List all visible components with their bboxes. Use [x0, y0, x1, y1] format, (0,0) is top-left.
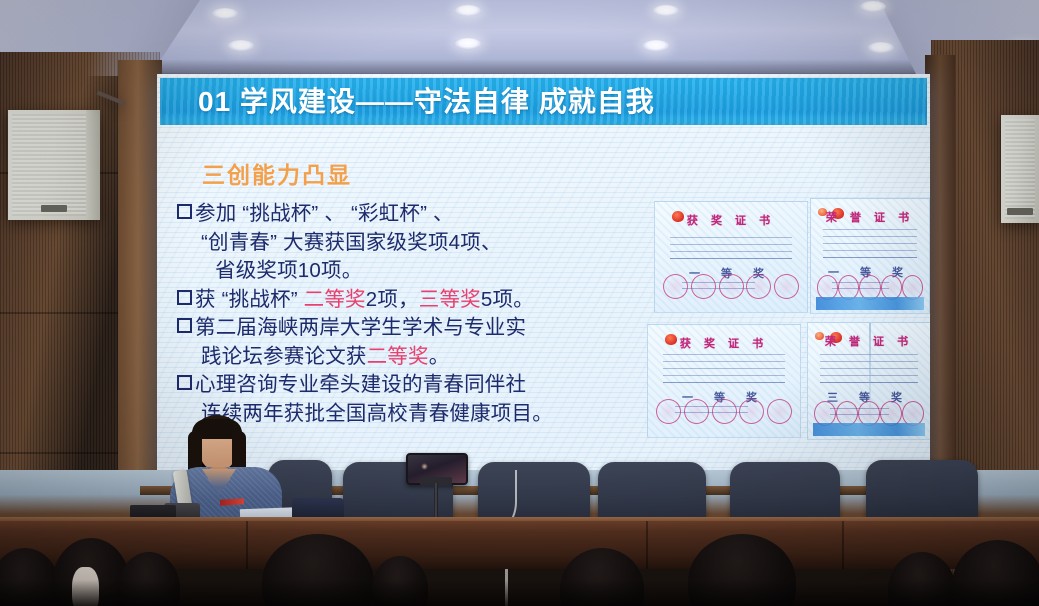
slide-bullet-line: 践论坛参赛论文获二等奖。	[177, 343, 647, 372]
desk-seam	[842, 521, 844, 569]
certificate-heading: 荣 誉 证 书	[811, 209, 929, 225]
seal-icon	[902, 401, 924, 426]
slide-bullet-line: 第二届海峡两岸大学生学术与专业实	[177, 314, 647, 343]
slide-bullet-list: 参加 “挑战杯” 、 “彩虹杯” 、“创青春” 大赛获国家级奖项4项、省级奖项1…	[177, 200, 647, 428]
downlight-icon	[868, 42, 894, 53]
wall-speaker-right	[1001, 115, 1039, 223]
slide-bullet-line: 参加 “挑战杯” 、 “彩虹杯” 、	[177, 200, 647, 229]
bullet-square-icon	[177, 318, 192, 333]
certificate-thumbnail: 荣 誉 证 书 一 等 奖	[810, 198, 930, 314]
certificate-ribbon	[813, 423, 925, 436]
desk-seam	[646, 521, 648, 569]
desk-seam	[246, 521, 248, 569]
certificate-fold	[869, 323, 871, 439]
seal-icon	[712, 399, 737, 424]
seal-icon	[684, 399, 709, 424]
bullet-text: 第二届海峡两岸大学生学术与专业实	[195, 316, 526, 339]
bottom-shadow	[0, 580, 1039, 606]
bullet-square-icon	[177, 290, 192, 305]
slide-bullet-line: 获 “挑战杯” 二等奖2项，三等奖5项。	[177, 286, 647, 315]
bullet-highlight-text: 二等奖	[367, 345, 429, 368]
seal-icon	[746, 274, 771, 299]
bullet-text: “创青春” 大赛获国家级奖项4项、	[201, 231, 502, 254]
bullet-highlight-text: 二等奖	[304, 288, 366, 311]
lecture-hall-scene: 01 学风建设——守法自律 成就自我 三创能力凸显 参加 “挑战杯” 、 “彩虹…	[0, 0, 1039, 606]
seal-icon	[691, 274, 716, 299]
slide-subtitle: 三创能力凸显	[202, 156, 352, 190]
certificate-body-text	[670, 231, 792, 260]
slide-title: 01 学风建设——守法自律 成就自我	[160, 78, 927, 125]
bullet-highlight-text: 三等奖	[419, 288, 481, 311]
slide-title-band: 01 学风建设——守法自律 成就自我	[160, 78, 927, 125]
downlight-icon	[643, 40, 669, 51]
certificate-thumbnail: 获 奖 证 书 一 等 奖	[647, 324, 801, 438]
wall-trim-left	[118, 60, 162, 480]
seal-icon	[656, 399, 681, 424]
chair	[598, 462, 706, 524]
seal-icon	[836, 401, 858, 426]
bullet-text: 践论坛参赛论文获	[201, 345, 367, 368]
bullet-text: 2项，	[366, 288, 419, 311]
downlight-icon	[860, 1, 886, 12]
certificate-thumbnail: 荣 誉 证 书 三 等 奖	[807, 322, 930, 440]
certificate-body-text	[663, 354, 785, 383]
slide-bullet-line: 省级奖项10项。	[177, 257, 647, 286]
bullet-square-icon	[177, 375, 192, 390]
certificate-thumbnail: 获 奖 证 书 一 等 奖	[654, 201, 808, 313]
bullet-square-icon	[177, 204, 192, 219]
wall-speaker-left	[8, 110, 100, 220]
chair	[730, 462, 840, 524]
downlight-icon	[212, 8, 238, 19]
certificate-seal-row	[656, 399, 793, 425]
bullet-text: 获 “挑战杯”	[195, 288, 304, 311]
certificate-heading: 获 奖 证 书	[648, 335, 800, 351]
seal-icon	[814, 401, 836, 426]
bullet-text: 。	[429, 345, 450, 368]
certificate-ribbon	[816, 297, 925, 310]
certificate-heading: 获 奖 证 书	[655, 212, 807, 228]
certificate-body-text	[823, 229, 917, 259]
slide-bullet-line: “创青春” 大赛获国家级奖项4项、	[177, 229, 647, 258]
certificate-seal-row	[663, 274, 800, 300]
chair	[866, 460, 978, 524]
seal-icon	[767, 399, 792, 424]
slide-bullet-line: 心理咨询专业牵头建设的青春同伴社	[177, 371, 647, 400]
downlight-icon	[455, 5, 481, 16]
seal-icon	[719, 274, 744, 299]
downlight-icon	[653, 5, 679, 16]
bullet-text: 参加 “挑战杯” 、 “彩虹杯” 、	[195, 202, 454, 225]
bullet-text: 心理咨询专业牵头建设的青春同伴社	[195, 373, 526, 396]
downlight-icon	[455, 38, 481, 49]
seal-icon	[880, 401, 902, 426]
seal-icon	[739, 399, 764, 424]
seal-icon	[663, 274, 688, 299]
bullet-text: 省级奖项10项。	[215, 259, 362, 282]
downlight-icon	[228, 40, 254, 51]
bullet-text: 5项。	[481, 288, 534, 311]
seal-icon	[774, 274, 799, 299]
